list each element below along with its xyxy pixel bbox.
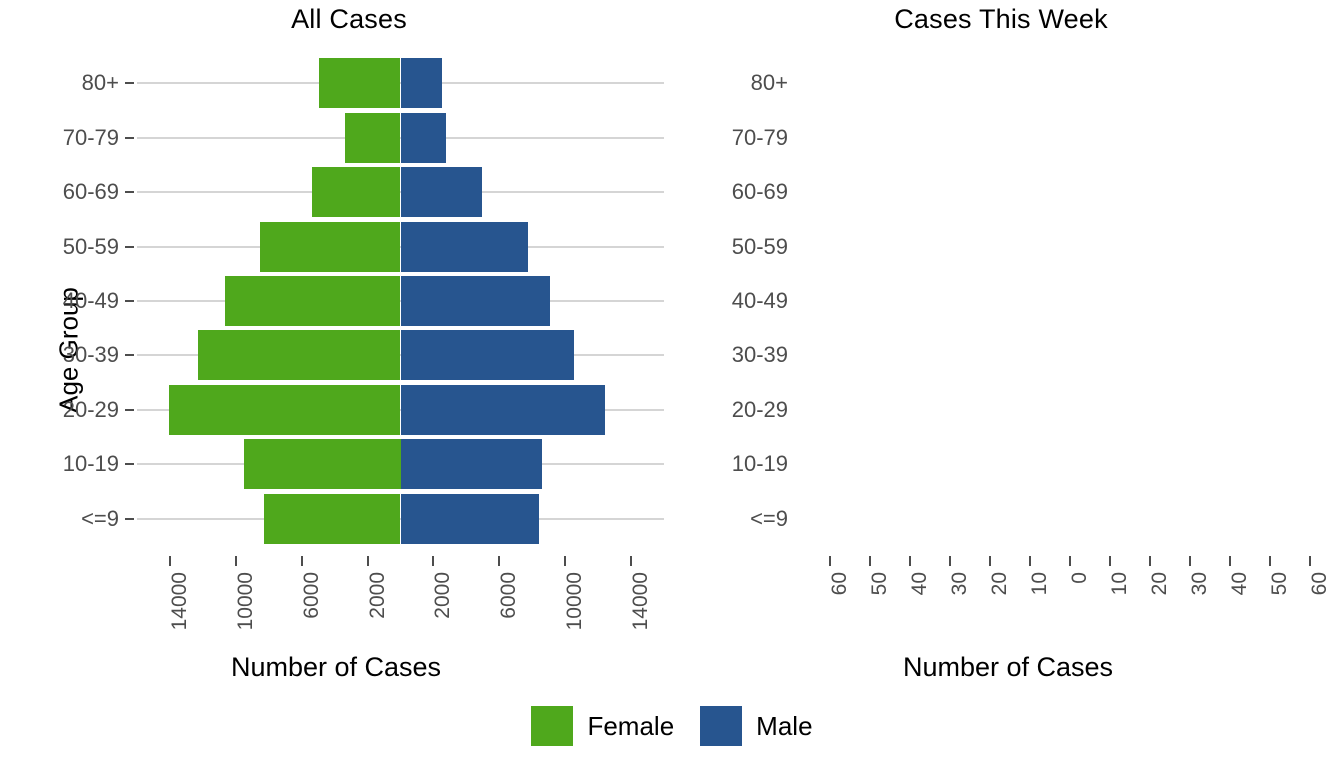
x-tick-mark [1309, 556, 1311, 566]
x-tick-label: 30 [1188, 572, 1212, 595]
x-tick-mark [1069, 556, 1071, 566]
x-tick-label: 10000 [234, 572, 258, 630]
x-tick-label: 60 [828, 572, 852, 595]
panel-cases-this-week: Cases This Week Number of Cases 80+70-79… [672, 0, 1344, 700]
bar-male-5059 [401, 222, 528, 272]
bar-male-1019 [401, 439, 543, 489]
y-tick-label: <=9 [750, 506, 788, 532]
x-tick-mark [367, 556, 369, 566]
bar-female-4049 [225, 276, 401, 326]
x-tick-label: 2000 [366, 572, 390, 619]
y-tick-label: 80+ [82, 70, 119, 96]
x-tick-mark [498, 556, 500, 566]
y-tick-label: 50-59 [732, 234, 788, 260]
y-tick-label: 30-39 [732, 342, 788, 368]
y-tick-mark [125, 354, 134, 356]
y-tick-mark [125, 409, 134, 411]
panel-all-cases: All Cases Age Group Number of Cases 80+7… [0, 0, 672, 700]
plot-area-all-cases [137, 56, 664, 546]
legend-label-female: Female [587, 711, 674, 742]
x-tick-mark [989, 556, 991, 566]
y-tick-label: 40-49 [63, 288, 119, 314]
y-tick-label: 10-19 [63, 451, 119, 477]
x-tick-label: 20 [1148, 572, 1172, 595]
bar-female-9 [264, 494, 401, 544]
x-tick-mark [1189, 556, 1191, 566]
bar-female-2029 [169, 385, 401, 435]
y-tick-label: 20-29 [63, 397, 119, 423]
x-tick-label: 2000 [431, 572, 455, 619]
y-tick-label: 60-69 [732, 179, 788, 205]
x-tick-mark [949, 556, 951, 566]
bar-female-6069 [312, 167, 401, 217]
y-tick-mark [125, 518, 134, 520]
y-tick-mark [125, 191, 134, 193]
x-tick-label: 50 [1268, 572, 1292, 595]
legend-item-female[interactable]: Female [531, 706, 674, 746]
y-tick-label: 50-59 [63, 234, 119, 260]
x-tick-mark [301, 556, 303, 566]
x-tick-mark [1029, 556, 1031, 566]
x-tick-label: 40 [1228, 572, 1252, 595]
y-tick-label: 70-79 [63, 125, 119, 151]
x-tick-label: 60 [1308, 572, 1332, 595]
y-tick-label: <=9 [81, 506, 119, 532]
x-tick-mark [630, 556, 632, 566]
y-tick-label: 20-29 [732, 397, 788, 423]
y-tick-label: 10-19 [732, 451, 788, 477]
x-tick-label: 14000 [629, 572, 653, 630]
x-tick-label: 0 [1068, 572, 1092, 584]
bar-female-5059 [260, 222, 401, 272]
x-tick-label: 50 [868, 572, 892, 595]
y-tick-label: 30-39 [63, 342, 119, 368]
legend-swatch-female [531, 706, 573, 746]
bar-male-4049 [401, 276, 551, 326]
x-tick-mark [1149, 556, 1151, 566]
bar-male-2029 [401, 385, 605, 435]
bar-male-7079 [401, 113, 447, 163]
x-tick-label: 14000 [168, 572, 192, 630]
y-tick-mark [125, 137, 134, 139]
x-tick-label: 30 [948, 572, 972, 595]
x-tick-mark [235, 556, 237, 566]
x-tick-label: 10 [1108, 572, 1132, 595]
bar-female-1019 [244, 439, 400, 489]
x-tick-label: 6000 [497, 572, 521, 619]
x-tick-mark [1109, 556, 1111, 566]
x-tick-label: 10 [1028, 572, 1052, 595]
y-tick-label: 80+ [751, 70, 788, 96]
x-tick-label: 6000 [300, 572, 324, 619]
x-tick-mark [1269, 556, 1271, 566]
bar-male-80+ [401, 58, 443, 108]
x-tick-label: 10000 [563, 572, 587, 630]
x-tick-mark [1229, 556, 1231, 566]
panel-title-cases-this-week: Cases This Week [665, 4, 1337, 35]
bar-male-6069 [401, 167, 482, 217]
y-tick-mark [125, 300, 134, 302]
bar-male-3039 [401, 330, 574, 380]
x-tick-mark [432, 556, 434, 566]
bar-female-3039 [198, 330, 400, 380]
bar-female-7079 [345, 113, 401, 163]
y-tick-mark [125, 463, 134, 465]
legend-label-male: Male [756, 711, 812, 742]
x-axis-title-cases-this-week: Number of Cases [672, 652, 1344, 683]
x-tick-label: 40 [908, 572, 932, 595]
bar-female-80+ [319, 58, 400, 108]
x-tick-label: 20 [988, 572, 1012, 595]
population-pyramid-figure: All Cases Age Group Number of Cases 80+7… [0, 0, 1344, 768]
y-tick-label: 60-69 [63, 179, 119, 205]
legend: FemaleMale [0, 706, 1344, 746]
y-tick-mark [125, 82, 134, 84]
bar-male-9 [401, 494, 540, 544]
x-tick-mark [909, 556, 911, 566]
legend-swatch-male [700, 706, 742, 746]
x-tick-mark [829, 556, 831, 566]
x-tick-mark [564, 556, 566, 566]
x-axis-title-all-cases: Number of Cases [0, 652, 672, 683]
x-tick-mark [869, 556, 871, 566]
legend-item-male[interactable]: Male [700, 706, 812, 746]
y-tick-mark [125, 246, 134, 248]
y-tick-label: 70-79 [732, 125, 788, 151]
panel-title-all-cases: All Cases [13, 4, 685, 35]
x-tick-mark [169, 556, 171, 566]
y-tick-label: 40-49 [732, 288, 788, 314]
